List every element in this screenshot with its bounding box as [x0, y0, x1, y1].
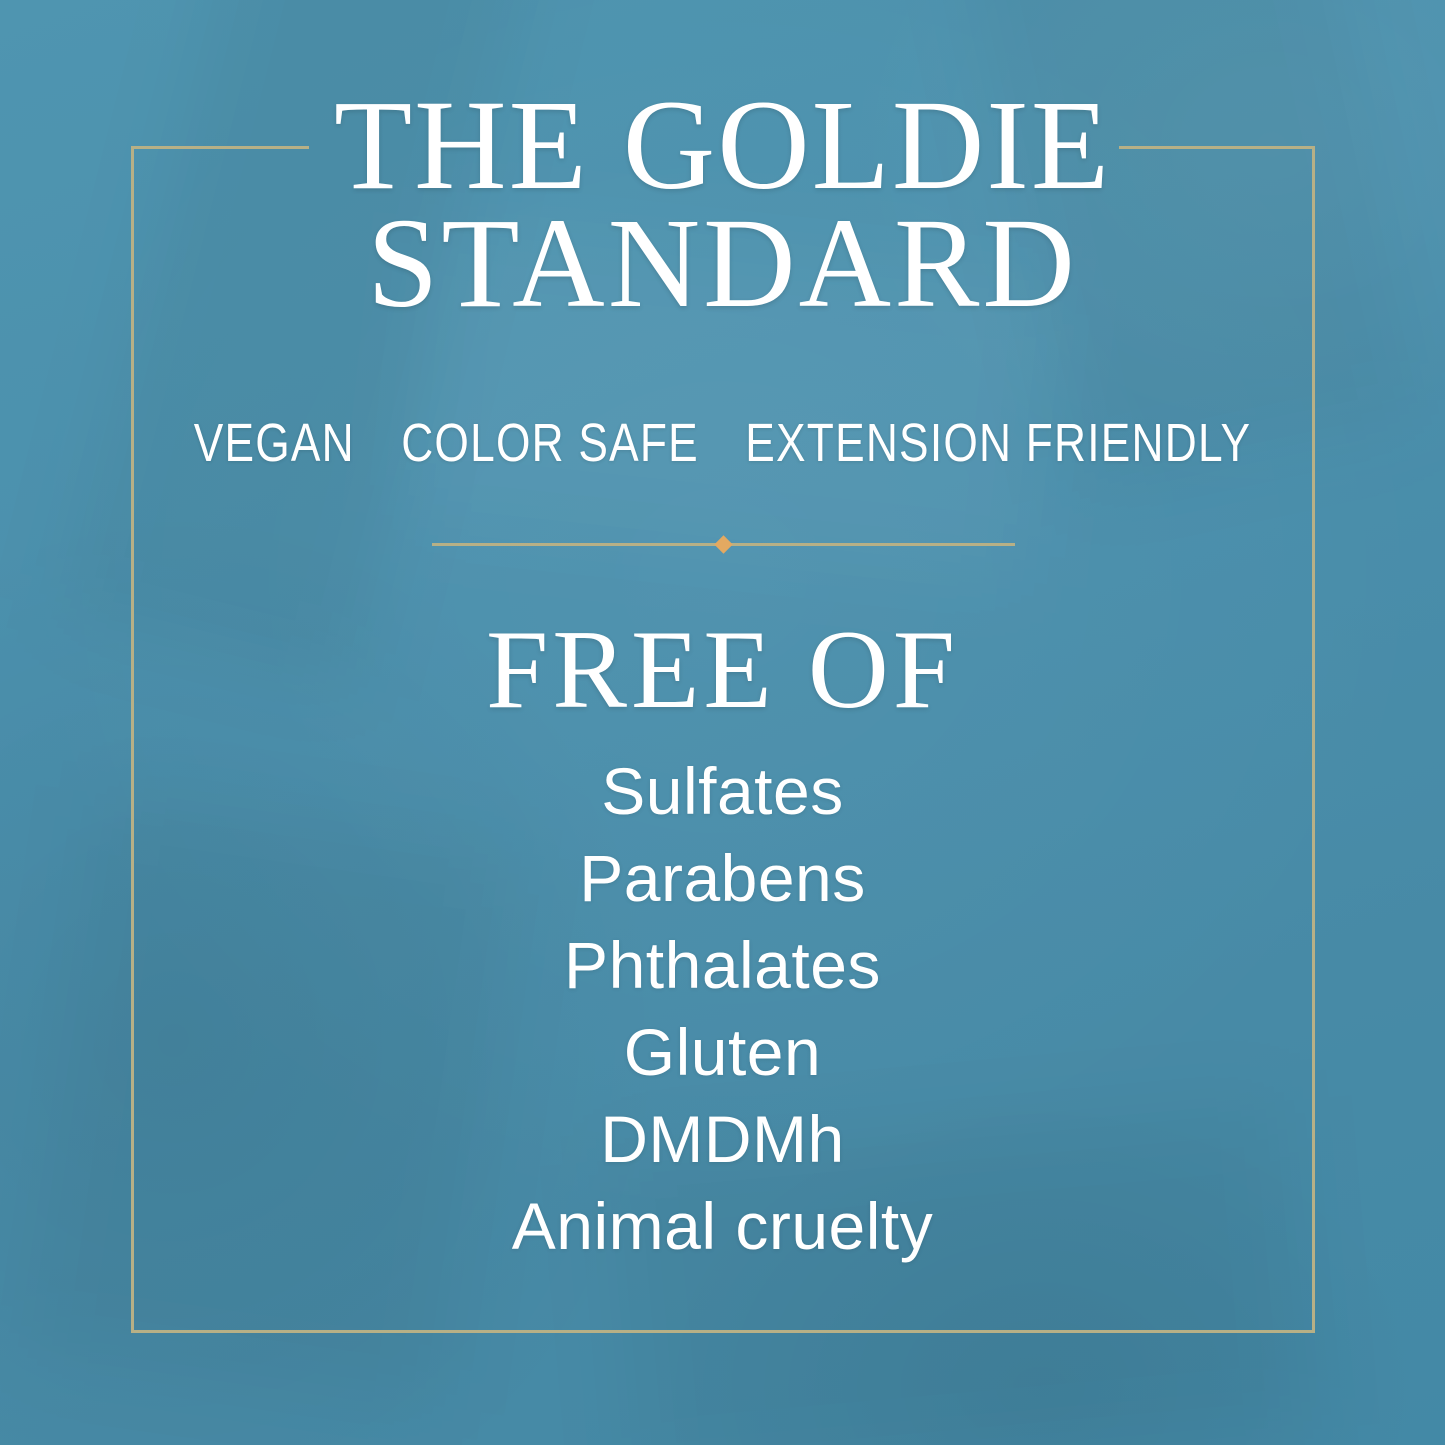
- frame-bottom-segment: [131, 1330, 1315, 1333]
- list-item: Phthalates: [0, 922, 1445, 1009]
- free-of-list: Sulfates Parabens Phthalates Gluten DMDM…: [0, 748, 1445, 1270]
- diamond-icon: [714, 535, 732, 553]
- list-item: Parabens: [0, 835, 1445, 922]
- claim-vegan: VEGAN: [194, 415, 355, 471]
- page-title-line-2: STANDARD: [0, 204, 1445, 322]
- list-item: Animal cruelty: [0, 1183, 1445, 1270]
- list-item: Gluten: [0, 1009, 1445, 1096]
- free-of-heading: FREE OF: [0, 614, 1445, 726]
- product-claims-card: THE GOLDIE STANDARD VEGAN COLOR SAFE EXT…: [0, 0, 1445, 1445]
- page-title: THE GOLDIE STANDARD: [0, 86, 1445, 322]
- claims-row: VEGAN COLOR SAFE EXTENSION FRIENDLY: [130, 415, 1315, 471]
- claim-color-safe: COLOR SAFE: [401, 415, 699, 471]
- page-title-line-1: THE GOLDIE: [0, 86, 1445, 204]
- claim-extension-friendly: EXTENSION FRIENDLY: [745, 415, 1251, 471]
- list-item: Sulfates: [0, 748, 1445, 835]
- list-item: DMDMh: [0, 1096, 1445, 1183]
- section-divider: [432, 543, 1015, 546]
